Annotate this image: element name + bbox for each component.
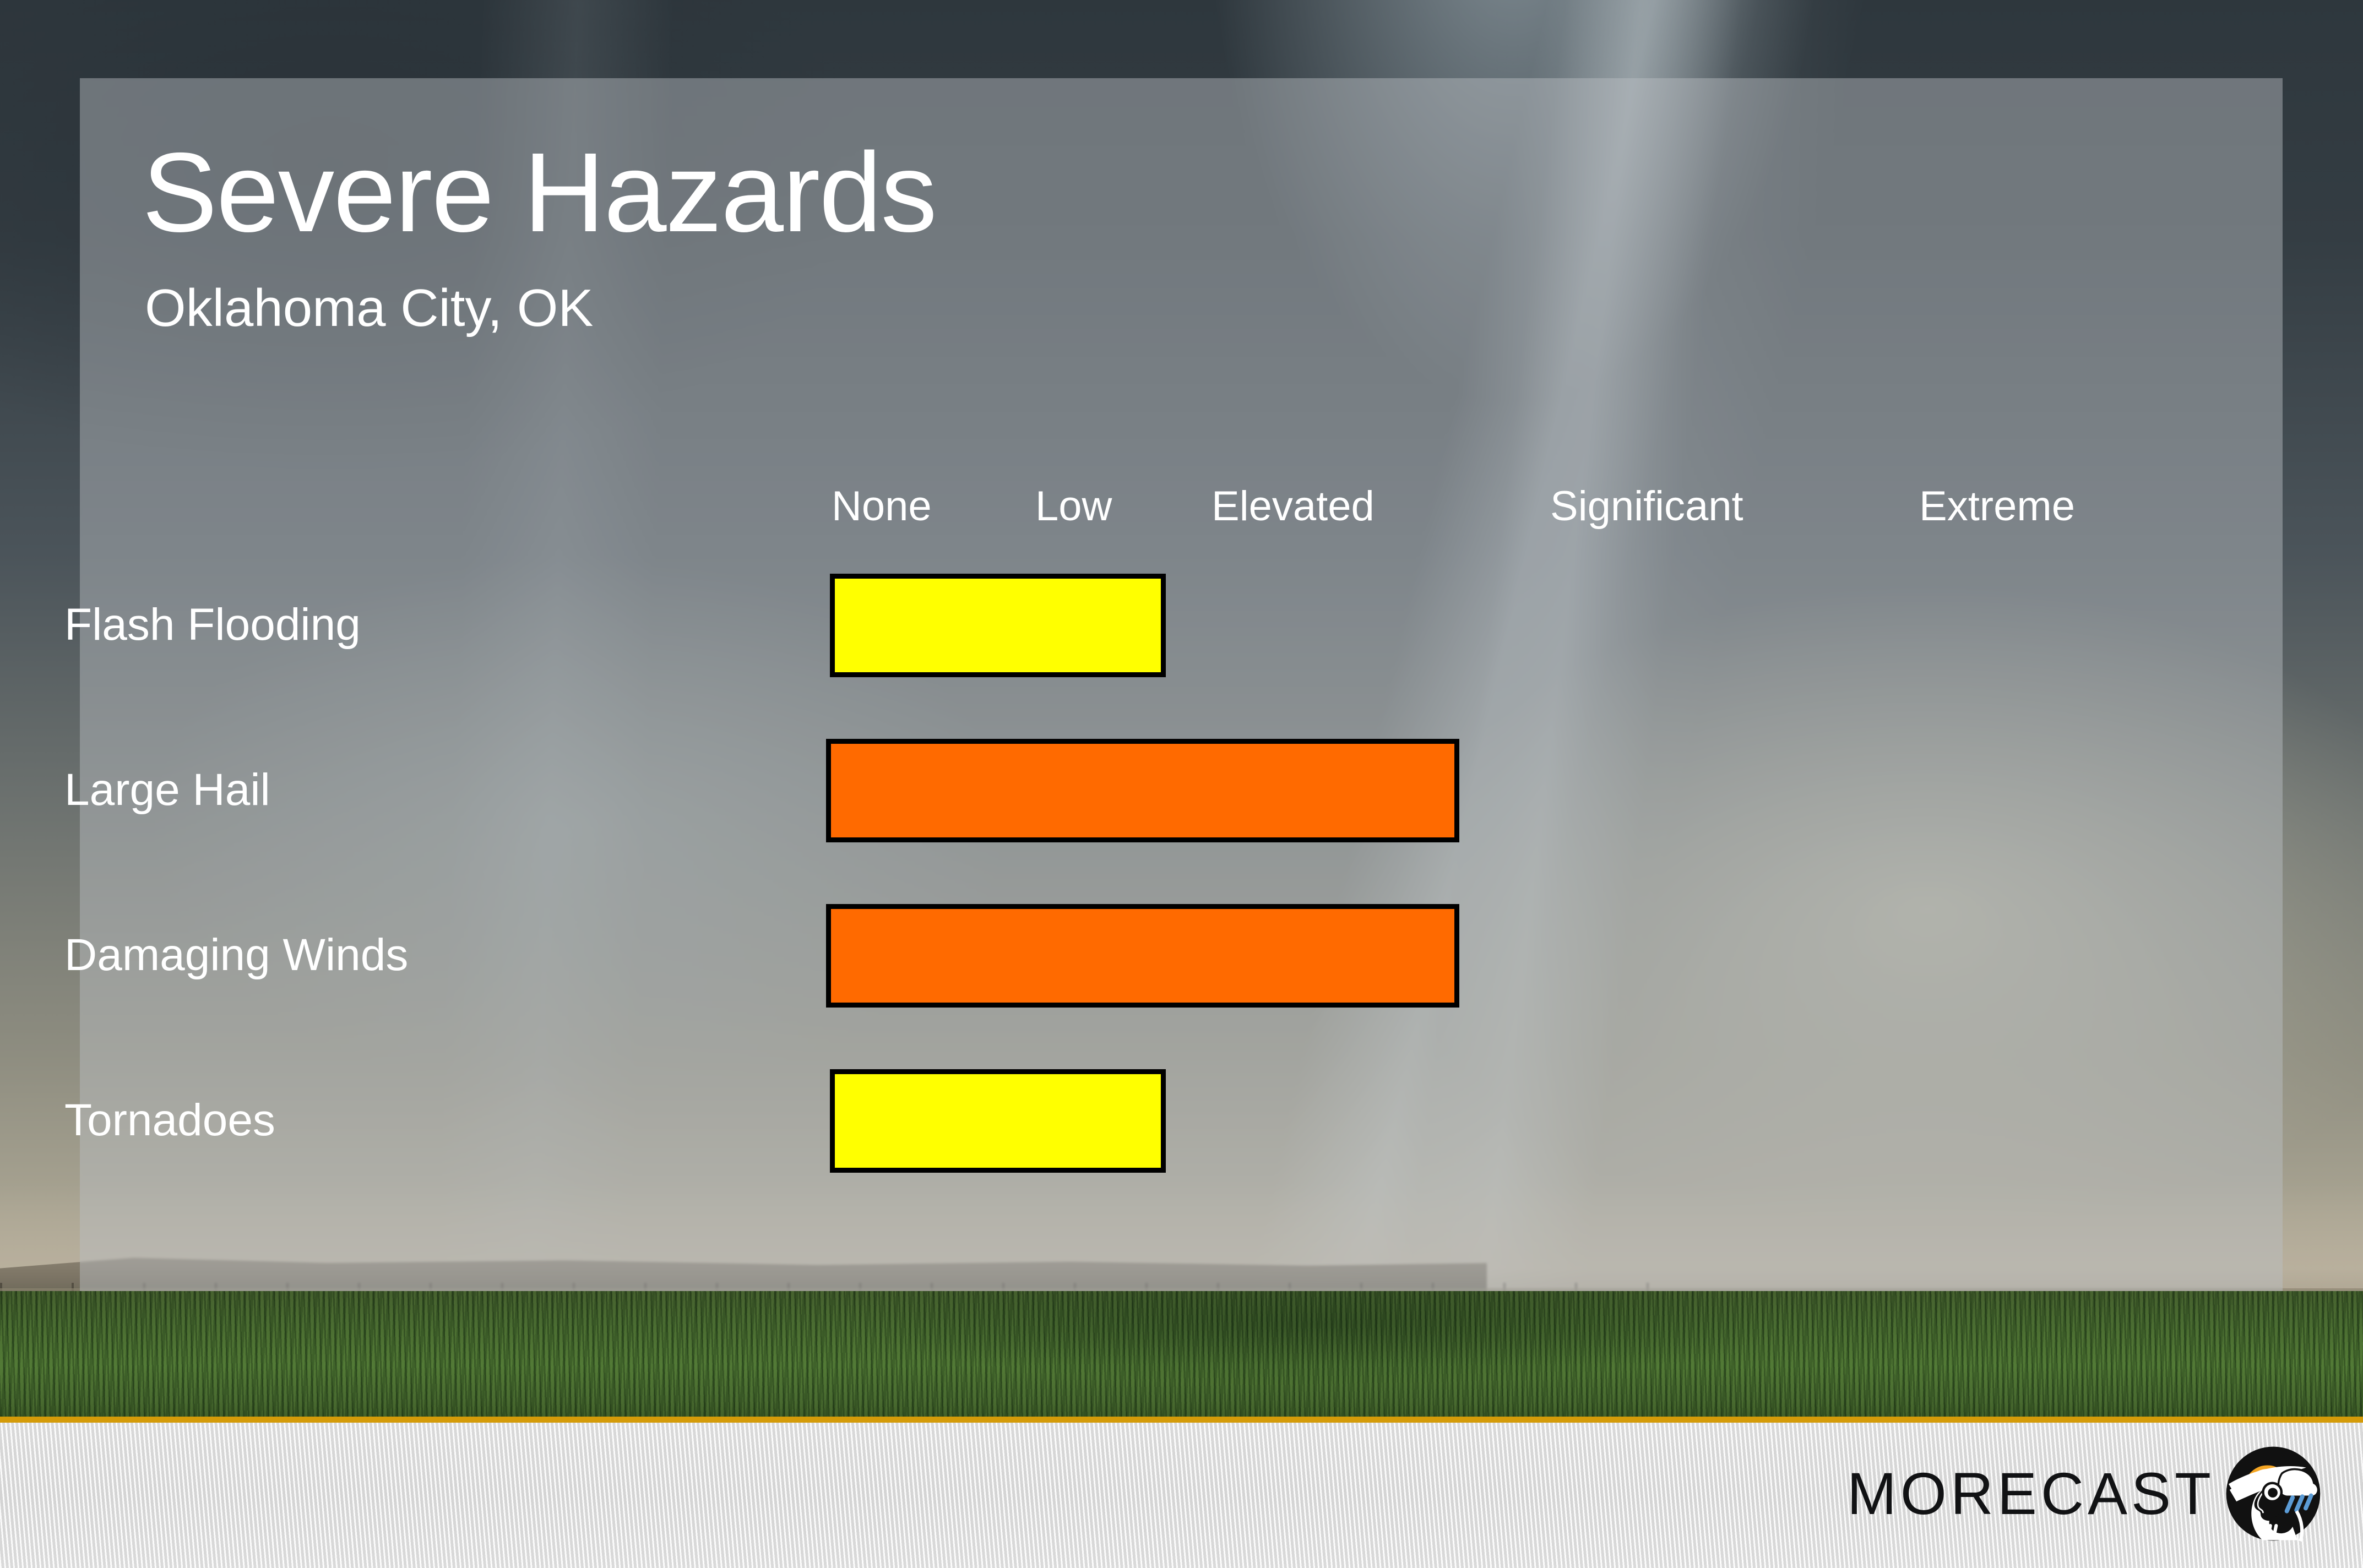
hazard-bar-tornadoes: [830, 1069, 1166, 1173]
content-panel: Severe Hazards Oklahoma City, OK None Lo…: [80, 78, 2283, 1291]
hazard-bar-damaging-winds: [826, 904, 1459, 1008]
hazard-bar-flash-flooding: [830, 574, 1166, 677]
scale-label-significant: Significant: [1550, 486, 1743, 527]
hazard-row-flash-flooding: Flash Flooding: [80, 574, 2283, 684]
grass-field: [0, 1291, 2363, 1419]
hazard-label-large-hail: Large Hail: [64, 767, 775, 813]
brand-wordmark: MORECAST: [1847, 1464, 2215, 1523]
morecast-logo-icon: [2225, 1445, 2322, 1542]
scale-label-none: None: [832, 486, 932, 527]
hazard-label-flash-flooding: Flash Flooding: [64, 602, 775, 647]
scale-label-low: Low: [1035, 486, 1112, 527]
hazard-row-damaging-winds: Damaging Winds: [80, 904, 2283, 1014]
brand-lockup: MORECAST: [1847, 1445, 2322, 1542]
hazard-label-tornadoes: Tornadoes: [64, 1098, 775, 1143]
hazard-label-damaging-winds: Damaging Winds: [64, 933, 775, 978]
scale-header: None Low Elevated Significant Extreme: [80, 486, 2283, 535]
page-title: Severe Hazards: [142, 136, 936, 249]
scale-label-extreme: Extreme: [1919, 486, 2075, 527]
hazard-row-large-hail: Large Hail: [80, 739, 2283, 849]
scale-label-elevated: Elevated: [1212, 486, 1375, 527]
gold-divider: [0, 1417, 2363, 1423]
hazard-row-tornadoes: Tornadoes: [80, 1069, 2283, 1179]
hazard-bar-large-hail: [826, 739, 1459, 842]
location-subtitle: Oklahoma City, OK: [145, 282, 593, 335]
